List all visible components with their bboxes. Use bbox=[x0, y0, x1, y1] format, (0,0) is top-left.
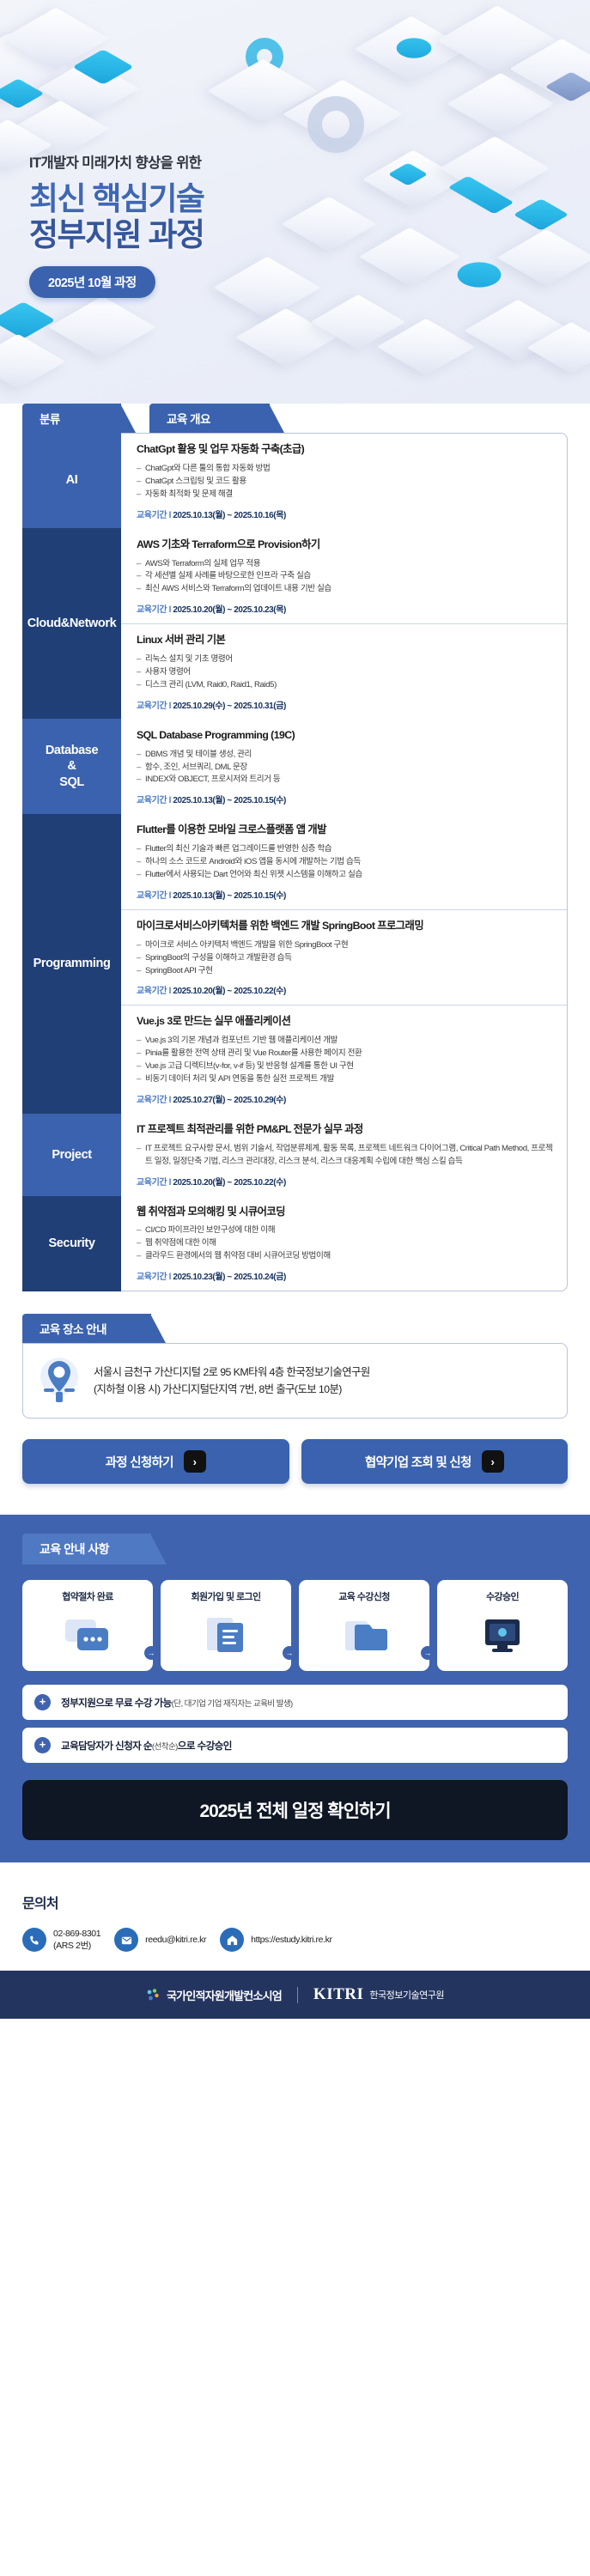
kitri-wordmark: KITRI bbox=[313, 1985, 363, 2004]
course-title: Linux 서버 관리 기본 bbox=[137, 634, 553, 647]
step-label: 교육 수강신청 bbox=[306, 1589, 423, 1603]
course-period-label: 교육기간 l bbox=[137, 796, 171, 805]
full-schedule-label: 2025년 전체 일정 확인하기 bbox=[199, 1801, 390, 1821]
course-period: 교육기간 l 2025.10.13(월) ~ 2025.10.16(목) bbox=[137, 507, 553, 520]
course-item: AWS 기초와 Terraform으로 Provision하기AWS와 Terr… bbox=[121, 529, 567, 625]
course-period-value: 2025.10.20(월) ~ 2025.10.23(목) bbox=[171, 605, 286, 615]
course-bullet: ChatGpt와 다른 툴의 통합 자동화 방법 bbox=[137, 463, 553, 476]
course-title: 웹 취약점과 모의해킹 및 시큐어코딩 bbox=[137, 1206, 553, 1219]
phone-icon bbox=[22, 1928, 46, 1952]
step-card-3: 교육 수강신청→ bbox=[299, 1580, 429, 1671]
home-icon bbox=[220, 1928, 244, 1952]
contact-line1: 02-869-8301 bbox=[53, 1928, 100, 1940]
course-title: Vue.js 3로 만드는 실무 애플리케이션 bbox=[137, 1015, 553, 1029]
course-title: 마이크로서비스아키텍처를 위한 백엔드 개발 SpringBoot 프로그래밍 bbox=[137, 920, 553, 933]
step-card-1: 협약절차 완료→ bbox=[22, 1580, 153, 1671]
contact-item[interactable]: 02-869-8301(ARS 2번) bbox=[22, 1928, 100, 1952]
tab-category-header: 분류 bbox=[22, 404, 121, 433]
full-schedule-button[interactable]: 2025년 전체 일정 확인하기 bbox=[22, 1780, 568, 1840]
contact-row: 02-869-8301(ARS 2번)reedu@kitri.re.krhttp… bbox=[22, 1928, 568, 1952]
course-item: 웹 취약점과 모의해킹 및 시큐어코딩CI/CD 파이프라인 보안구성에 대한 … bbox=[121, 1196, 567, 1291]
curriculum-group: 웹 취약점과 모의해킹 및 시큐어코딩CI/CD 파이프라인 보안구성에 대한 … bbox=[121, 1196, 567, 1291]
course-bullet: 클라우드 환경에서의 웹 취약점 대비 시큐어코딩 방법이해 bbox=[137, 1250, 553, 1263]
curriculum-table: AICloud&NetworkDatabase&SQLProgrammingPr… bbox=[22, 433, 568, 1291]
step-label: 수강승인 bbox=[444, 1589, 561, 1603]
contact-line1: reedu@kitri.re.kr bbox=[145, 1934, 206, 1946]
course-bullet: 디스크 관리 (LVM, Raid0, Raid1, Raid5) bbox=[137, 679, 553, 692]
course-bullet: Pinia를 활용한 전역 상태 관리 및 Vue Router를 사용한 페이… bbox=[137, 1048, 553, 1060]
course-bullet: Flutter의 최신 기술과 빠른 업그레이드를 반영한 심층 학습 bbox=[137, 843, 553, 856]
course-bullet: 비동기 데이터 처리 및 API 연동을 통한 실전 프로젝트 개발 bbox=[137, 1073, 553, 1086]
curriculum-group: AWS 기초와 Terraform으로 Provision하기AWS와 Terr… bbox=[121, 529, 567, 720]
course-bullet-list: Flutter의 최신 기술과 빠른 업그레이드를 반영한 심층 학습하나의 소… bbox=[137, 843, 553, 882]
hero-text-block: IT개발자 미래가치 향상을 위한 최신 핵심기술 정부지원 과정 2025년 … bbox=[29, 151, 204, 298]
course-bullet-list: ChatGpt와 다른 툴의 통합 자동화 방법ChatGpt 스크립팅 및 코… bbox=[137, 463, 553, 501]
plus-icon: + bbox=[34, 1737, 51, 1753]
contact-line2: (ARS 2번) bbox=[53, 1940, 100, 1952]
monitor-icon bbox=[444, 1611, 561, 1659]
course-period: 교육기간 l 2025.10.20(월) ~ 2025.10.23(목) bbox=[137, 602, 553, 615]
kitri-korean-name: 한국정보기술연구원 bbox=[369, 1988, 444, 2002]
course-item: Vue.js 3로 만드는 실무 애플리케이션Vue.js 3의 기본 개념과 … bbox=[121, 1005, 567, 1113]
curriculum-tabbar: 분류 교육 개요 bbox=[22, 404, 568, 433]
curriculum-group: Flutter를 이용한 모바일 크로스플랫폼 앱 개발Flutter의 최신 … bbox=[121, 814, 567, 1114]
hero-title-line2: 정부지원 과정 bbox=[29, 217, 204, 253]
venue-address: 서울시 금천구 가산디지털 2로 95 KM타워 4층 한국정보기술연구원 (지… bbox=[94, 1364, 370, 1398]
step-arrow-icon: → bbox=[421, 1646, 435, 1660]
info-tab-label: 교육 안내 사항 bbox=[22, 1534, 151, 1564]
course-period-value: 2025.10.13(월) ~ 2025.10.15(수) bbox=[171, 891, 286, 901]
category-cell: Security bbox=[22, 1196, 121, 1291]
category-cell: Programming bbox=[22, 814, 121, 1114]
course-bullet: 리눅스 설치 및 기초 명령어 bbox=[137, 653, 553, 666]
venue-box: 서울시 금천구 가산디지털 2로 95 KM타워 4층 한국정보기술연구원 (지… bbox=[22, 1343, 568, 1419]
venue-address-line1: 서울시 금천구 가산디지털 2로 95 KM타워 4층 한국정보기술연구원 bbox=[94, 1364, 370, 1381]
course-period-label: 교육기간 l bbox=[137, 891, 171, 901]
course-bullet: Vue.js 3의 기본 개념과 컴포넌트 기반 웹 애플리케이션 개발 bbox=[137, 1035, 553, 1048]
course-period-label: 교육기간 l bbox=[137, 605, 171, 615]
course-period-label: 교육기간 l bbox=[137, 1178, 171, 1188]
apply-course-button[interactable]: 과정 신청하기› bbox=[22, 1439, 289, 1484]
course-period-label: 교육기간 l bbox=[137, 987, 171, 996]
chevron-right-icon: › bbox=[184, 1450, 206, 1473]
curriculum-overview-column: ChatGpt 활용 및 업무 자동화 구축(초급)ChatGpt와 다른 툴의… bbox=[121, 433, 568, 1291]
course-title: Flutter를 이용한 모바일 크로스플랫폼 앱 개발 bbox=[137, 823, 553, 837]
cta-label: 과정 신청하기 bbox=[106, 1453, 173, 1471]
venue-section: 교육 장소 안내 서울시 금천구 가산디지털 2로 95 KM타워 4층 한국정… bbox=[22, 1314, 568, 1419]
step-label: 협약절차 완료 bbox=[29, 1589, 146, 1603]
course-period: 교육기간 l 2025.10.29(수) ~ 2025.10.31(금) bbox=[137, 698, 553, 711]
course-period: 교육기간 l 2025.10.23(월) ~ 2025.10.24(금) bbox=[137, 1269, 553, 1282]
course-period-label: 교육기간 l bbox=[137, 511, 171, 520]
cta-label: 협약기업 조회 및 신청 bbox=[365, 1453, 471, 1471]
cta-button-row: 과정 신청하기›협약기업 조회 및 신청› bbox=[22, 1439, 568, 1484]
contact-title: 문의처 bbox=[22, 1892, 568, 1912]
course-period-value: 2025.10.13(월) ~ 2025.10.16(목) bbox=[171, 511, 286, 520]
course-item: SQL Database Programming (19C)DBMS 개념 및 … bbox=[121, 720, 567, 815]
tab-gap bbox=[121, 404, 149, 433]
course-bullet: SpringBoot API 구현 bbox=[137, 965, 553, 978]
promo-page: IT개발자 미래가치 향상을 위한 최신 핵심기술 정부지원 과정 2025년 … bbox=[0, 0, 590, 2019]
info-tabbar: 교육 안내 사항 bbox=[0, 1515, 590, 1564]
course-bullet-list: Vue.js 3의 기본 개념과 컴포넌트 기반 웹 애플리케이션 개발Pini… bbox=[137, 1035, 553, 1085]
course-item: Flutter를 이용한 모바일 크로스플랫폼 앱 개발Flutter의 최신 … bbox=[121, 814, 567, 910]
chat-bubbles-icon bbox=[29, 1611, 146, 1659]
info-panel: 교육 안내 사항 협약절차 완료→회원가입 및 로그인→교육 수강신청→수강승인… bbox=[0, 1515, 590, 1862]
course-item: 마이크로서비스아키텍처를 위한 백엔드 개발 SpringBoot 프로그래밍마… bbox=[121, 910, 567, 1006]
course-period-value: 2025.10.20(월) ~ 2025.10.22(수) bbox=[171, 987, 286, 996]
course-bullet-list: DBMS 개념 및 테이블 생성, 관리함수, 조인, 서브쿼리, DML 문장… bbox=[137, 749, 553, 787]
category-cell: Database&SQL bbox=[22, 719, 121, 814]
mail-icon bbox=[114, 1928, 138, 1952]
course-period: 교육기간 l 2025.10.27(월) ~ 2025.10.29(수) bbox=[137, 1092, 553, 1105]
curriculum-group: SQL Database Programming (19C)DBMS 개념 및 … bbox=[121, 720, 567, 815]
course-period: 교육기간 l 2025.10.20(월) ~ 2025.10.22(수) bbox=[137, 983, 553, 996]
course-period: 교육기간 l 2025.10.13(월) ~ 2025.10.15(수) bbox=[137, 888, 553, 901]
kitri-logo: KITRI 한국정보기술연구원 bbox=[313, 1985, 444, 2004]
contact-text: https://estudy.kitri.re.kr bbox=[251, 1934, 331, 1946]
info-note-sub: (단, 대기업 기업 재직자는 교육비 발생) bbox=[172, 1699, 293, 1709]
info-note-main2: 으로 수강승인 bbox=[178, 1741, 232, 1752]
course-bullet: 각 세션별 실제 사례를 바탕으로한 인프라 구축 실습 bbox=[137, 570, 553, 583]
notes-list: +정부지원으로 무료 수강 가능(단, 대기업 기업 재직자는 교육비 발생)+… bbox=[0, 1671, 590, 1763]
contact-section: 문의처 02-869-8301(ARS 2번)reedu@kitri.re.kr… bbox=[0, 1862, 590, 1971]
course-item: Linux 서버 관리 기본리눅스 설치 및 기초 명령어사용자 명령어디스크 … bbox=[121, 624, 567, 720]
folder-icon bbox=[306, 1611, 423, 1659]
contact-item[interactable]: reedu@kitri.re.kr bbox=[114, 1928, 206, 1952]
hero-banner: IT개발자 미래가치 향상을 위한 최신 핵심기술 정부지원 과정 2025년 … bbox=[0, 0, 590, 404]
footer-divider bbox=[297, 1987, 298, 2003]
course-title: ChatGpt 활용 및 업무 자동화 구축(초급) bbox=[137, 443, 553, 457]
info-note-text: 교육담당자가 신청자 순(선착순)으로 수강승인 bbox=[61, 1739, 232, 1753]
steps-row: 협약절차 완료→회원가입 및 로그인→교육 수강신청→수강승인 bbox=[0, 1564, 590, 1671]
step-card-4: 수강승인 bbox=[437, 1580, 568, 1671]
location-pin-icon bbox=[39, 1358, 80, 1404]
hero-kicker: IT개발자 미래가치 향상을 위한 bbox=[29, 151, 204, 172]
course-bullet: 사용자 명령어 bbox=[137, 666, 553, 679]
curriculum-group: ChatGpt 활용 및 업무 자동화 구축(초급)ChatGpt와 다른 툴의… bbox=[121, 434, 567, 529]
course-bullet: 마이크로 서비스 아키텍처 백엔드 개발을 위한 SpringBoot 구현 bbox=[137, 939, 553, 952]
course-bullet: AWS와 Terraform의 실제 업무 적용 bbox=[137, 558, 553, 571]
course-period: 교육기간 l 2025.10.20(월) ~ 2025.10.22(수) bbox=[137, 1175, 553, 1188]
step-arrow-icon: → bbox=[144, 1646, 158, 1660]
documents-icon bbox=[167, 1611, 284, 1659]
venue-address-line2: (지하철 이용 시) 가산디지털단지역 7번, 8번 출구(도보 10분) bbox=[94, 1381, 370, 1398]
course-title: AWS 기초와 Terraform으로 Provision하기 bbox=[137, 538, 553, 552]
course-bullet: Flutter에서 사용되는 Dart 언어와 최신 위젯 시스템을 이해하고 … bbox=[137, 869, 553, 882]
curriculum-category-column: AICloud&NetworkDatabase&SQLProgrammingPr… bbox=[22, 433, 121, 1291]
info-note-main: 정부지원으로 무료 수강 가능 bbox=[61, 1698, 172, 1709]
course-bullet: 하나의 소스 코드로 Android와 iOS 앱을 동시에 개발하는 기법 습… bbox=[137, 856, 553, 869]
course-bullet: Vue.js 고급 디렉티브(v-for, v-if 등) 및 반응형 설계를 … bbox=[137, 1060, 553, 1073]
course-title: SQL Database Programming (19C) bbox=[137, 729, 553, 743]
course-title: IT 프로젝트 최적관리를 위한 PM&PL 전문가 실무 과정 bbox=[137, 1123, 553, 1137]
consortium-logo: 국가인적자원개발컨소시엄 bbox=[146, 1987, 282, 2003]
plus-icon: + bbox=[34, 1694, 51, 1710]
course-bullet-list: CI/CD 파이프라인 보안구성에 대한 이해웹 취약점에 대한 이해클라우드 … bbox=[137, 1224, 553, 1263]
info-note-text: 정부지원으로 무료 수강 가능(단, 대기업 기업 재직자는 교육비 발생) bbox=[61, 1696, 293, 1710]
course-bullet: 자동화 최적화 및 문제 해결 bbox=[137, 489, 553, 501]
category-cell: Project bbox=[22, 1114, 121, 1196]
course-bullet: INDEX와 OBJECT, 프로시저와 트리거 등 bbox=[137, 774, 553, 787]
chevron-right-icon: › bbox=[482, 1450, 504, 1473]
venue-tab-label: 교육 장소 안내 bbox=[22, 1314, 151, 1343]
course-item: ChatGpt 활용 및 업무 자동화 구축(초급)ChatGpt와 다른 툴의… bbox=[121, 434, 567, 529]
course-bullet: CI/CD 파이프라인 보안구성에 대한 이해 bbox=[137, 1224, 553, 1237]
course-bullet-list: 마이크로 서비스 아키텍처 백엔드 개발을 위한 SpringBoot 구현Sp… bbox=[137, 939, 553, 978]
course-bullet: SpringBoot의 구성을 이해하고 개발환경 습득 bbox=[137, 952, 553, 965]
course-period-label: 교육기간 l bbox=[137, 702, 171, 711]
course-bullet: DBMS 개념 및 테이블 생성, 관리 bbox=[137, 749, 553, 762]
info-note: +정부지원으로 무료 수강 가능(단, 대기업 기업 재직자는 교육비 발생) bbox=[22, 1685, 568, 1720]
curriculum-group: IT 프로젝트 최적관리를 위한 PM&PL 전문가 실무 과정IT 프로젝트 … bbox=[121, 1114, 567, 1196]
tab-overview-header: 교육 개요 bbox=[149, 404, 270, 433]
category-cell: AI bbox=[22, 433, 121, 528]
course-period-value: 2025.10.29(수) ~ 2025.10.31(금) bbox=[171, 702, 286, 711]
course-bullet: 함수, 조인, 서브쿼리, DML 문장 bbox=[137, 762, 553, 775]
page-footer: 국가인적자원개발컨소시엄 KITRI 한국정보기술연구원 bbox=[0, 1971, 590, 2019]
course-bullet: ChatGpt 스크립팅 및 코드 활용 bbox=[137, 476, 553, 489]
info-note: +교육담당자가 신청자 순(선착순)으로 수강승인 bbox=[22, 1728, 568, 1763]
course-bullet-list: AWS와 Terraform의 실제 업무 적용각 세션별 실제 사례를 바탕으… bbox=[137, 558, 553, 597]
info-note-sub: (선착순) bbox=[152, 1742, 178, 1752]
step-arrow-icon: → bbox=[283, 1646, 296, 1660]
consortium-mark-icon bbox=[146, 1988, 161, 2002]
course-bullet: 최신 AWS 서비스와 Terraform의 업데이트 내용 기반 실습 bbox=[137, 583, 553, 596]
course-bullet-list: IT 프로젝트 요구사항 문서, 범위 기술서, 작업분류체계, 활동 목록, … bbox=[137, 1143, 553, 1169]
course-bullet-list: 리눅스 설치 및 기초 명령어사용자 명령어디스크 관리 (LVM, Raid0… bbox=[137, 653, 553, 692]
contact-line1: https://estudy.kitri.re.kr bbox=[251, 1934, 331, 1946]
hero-title-line1: 최신 핵심기술 bbox=[29, 181, 204, 217]
hero-date-badge: 2025년 10월 과정 bbox=[29, 266, 155, 298]
info-note-main: 교육담당자가 신청자 순 bbox=[61, 1741, 152, 1752]
course-period-value: 2025.10.27(월) ~ 2025.10.29(수) bbox=[171, 1096, 286, 1105]
course-period-value: 2025.10.20(월) ~ 2025.10.22(수) bbox=[171, 1178, 286, 1188]
course-bullet: 웹 취약점에 대한 이해 bbox=[137, 1237, 553, 1250]
consortium-name: 국가인적자원개발컨소시엄 bbox=[167, 1987, 282, 2003]
category-cell: Cloud&Network bbox=[22, 528, 121, 719]
course-period-value: 2025.10.23(월) ~ 2025.10.24(금) bbox=[171, 1273, 286, 1282]
step-card-2: 회원가입 및 로그인→ bbox=[161, 1580, 291, 1671]
course-period-value: 2025.10.13(월) ~ 2025.10.15(수) bbox=[171, 796, 286, 805]
contact-text: 02-869-8301(ARS 2번) bbox=[53, 1928, 100, 1952]
course-period-label: 교육기간 l bbox=[137, 1096, 171, 1105]
contact-text: reedu@kitri.re.kr bbox=[145, 1934, 206, 1946]
course-item: IT 프로젝트 최적관리를 위한 PM&PL 전문가 실무 과정IT 프로젝트 … bbox=[121, 1114, 567, 1196]
contact-item[interactable]: https://estudy.kitri.re.kr bbox=[220, 1928, 331, 1952]
partner-company-button[interactable]: 협약기업 조회 및 신청› bbox=[301, 1439, 569, 1484]
course-bullet: IT 프로젝트 요구사항 문서, 범위 기술서, 작업분류체계, 활동 목록, … bbox=[137, 1143, 553, 1169]
course-period: 교육기간 l 2025.10.13(월) ~ 2025.10.15(수) bbox=[137, 793, 553, 805]
course-period-label: 교육기간 l bbox=[137, 1273, 171, 1282]
step-label: 회원가입 및 로그인 bbox=[167, 1589, 284, 1603]
